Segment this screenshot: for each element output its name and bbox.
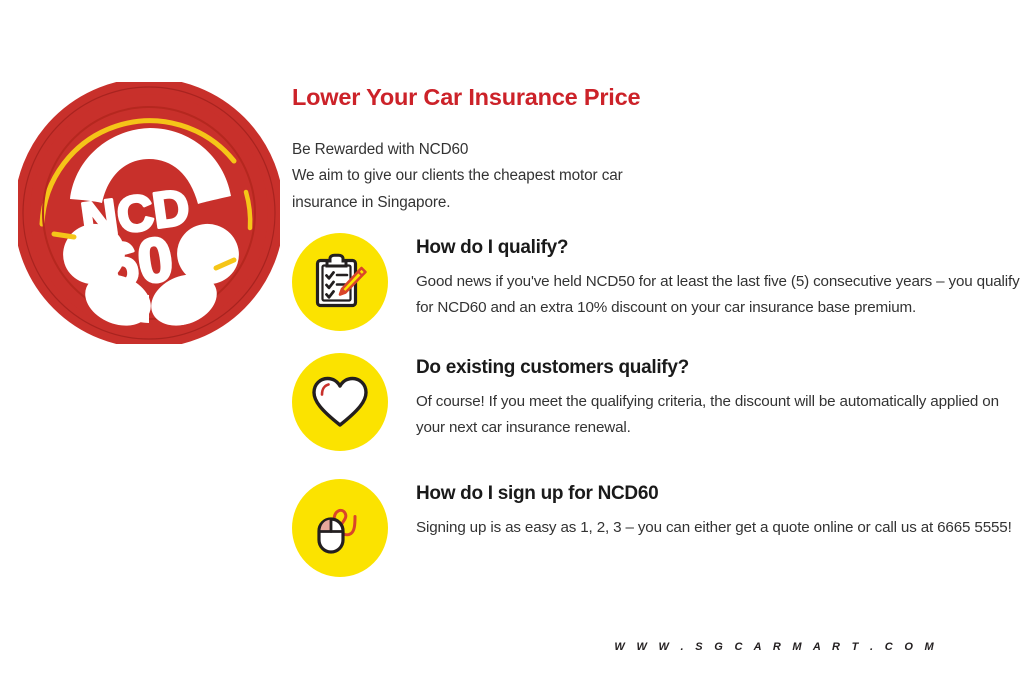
feature-title: How do I sign up for NCD60 xyxy=(416,483,1024,506)
feature-item-qualify: How do I qualify? Good news if you've he… xyxy=(292,233,1024,331)
computer-mouse-icon xyxy=(312,500,368,556)
intro-block: Lower Your Car Insurance Price Be Reward… xyxy=(292,84,1022,216)
promo-page: NCD 60 Lower Your Car Insurance Price Be… xyxy=(0,0,1024,683)
ncd60-logo: NCD 60 xyxy=(18,82,280,344)
feature-body: Signing up is as easy as 1, 2, 3 – you c… xyxy=(416,515,1024,541)
feature-icon-badge xyxy=(292,233,388,331)
intro-paragraph: Be Rewarded with NCD60 We aim to give ou… xyxy=(292,137,1022,216)
feature-text: Do existing customers qualify? Of course… xyxy=(416,353,1024,441)
feature-list: How do I qualify? Good news if you've he… xyxy=(292,233,1024,577)
feature-icon-badge xyxy=(292,353,388,451)
steering-wheel-icon: NCD 60 xyxy=(18,82,280,344)
heart-icon xyxy=(311,375,369,429)
feature-text: How do I qualify? Good news if you've he… xyxy=(416,233,1024,321)
site-watermark: W W W . S G C A R M A R T . C O M xyxy=(614,641,938,653)
feature-item-sign-up: How do I sign up for NCD60 Signing up is… xyxy=(292,479,1024,577)
page-title: Lower Your Car Insurance Price xyxy=(292,84,1022,111)
feature-body: Good news if you've held NCD50 for at le… xyxy=(416,269,1024,322)
intro-line-3: insurance in Singapore. xyxy=(292,190,1022,216)
feature-icon-badge xyxy=(292,479,388,577)
feature-item-existing-customers: Do existing customers qualify? Of course… xyxy=(292,353,1024,451)
intro-line-1: Be Rewarded with NCD60 xyxy=(292,137,1022,163)
feature-title: Do existing customers qualify? xyxy=(416,357,1024,380)
logo-line2: 60 xyxy=(99,224,177,302)
intro-line-2: We aim to give our clients the cheapest … xyxy=(292,163,1022,189)
clipboard-checklist-pencil-icon xyxy=(312,253,368,311)
feature-text: How do I sign up for NCD60 Signing up is… xyxy=(416,479,1024,541)
feature-title: How do I qualify? xyxy=(416,237,1024,260)
feature-body: Of course! If you meet the qualifying cr… xyxy=(416,389,1024,442)
